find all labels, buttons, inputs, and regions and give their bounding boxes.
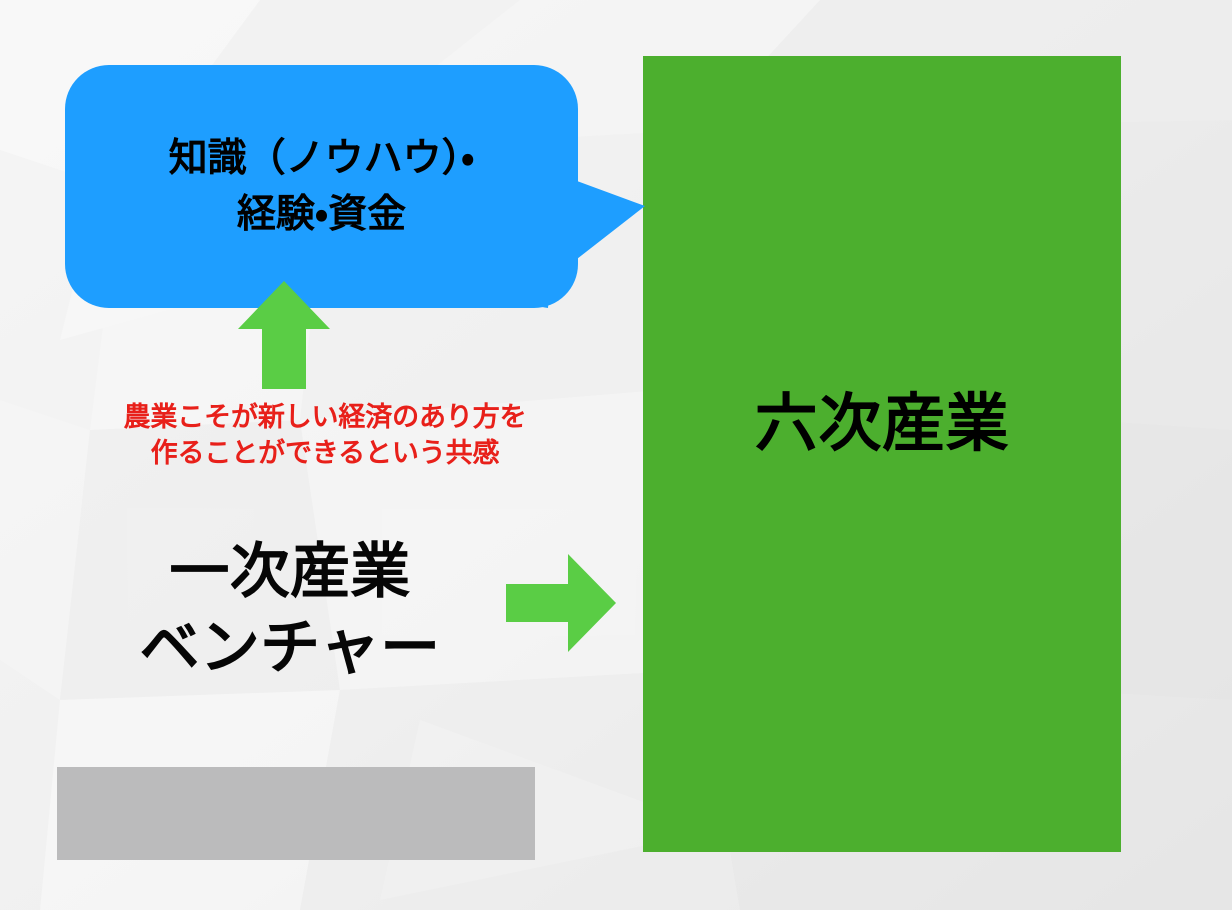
knowledge-speech-bubble: 知識（ノウハウ）・ 経験・資金 [65,65,578,308]
red-caption-line-2: 作ることができるという共感 [40,436,610,472]
empathy-caption: 農業こそが新しい経済のあり方を 作ることができるという共感 [40,400,610,471]
primary-industry-venture-heading: 一次産業 ベンチャー [70,534,510,686]
red-caption-line-1: 農業こそが新しい経済のあり方を [40,400,610,436]
sixth-industry-label: 六次産業 [643,26,1121,822]
bubble-line-2: 経験・資金 [237,190,406,240]
sixth-industry-panel: 六次産業 [643,56,1121,852]
primary-heading-line-1: 一次産業 [70,534,510,610]
speech-bubble-text: 知識（ノウハウ）・ 経験・資金 [65,65,578,308]
rightward-green-arrow [506,554,616,652]
blank-placeholder-block [57,767,535,860]
slide-canvas: 六次産業 知識（ノウハウ）・ 経験・資金 農業こそが新しい経済のあり方を 作るこ… [0,0,1232,910]
upward-green-arrow [238,281,330,389]
bubble-line-1: 知識（ノウハウ）・ [169,134,475,184]
primary-heading-line-2: ベンチャー [70,610,510,686]
